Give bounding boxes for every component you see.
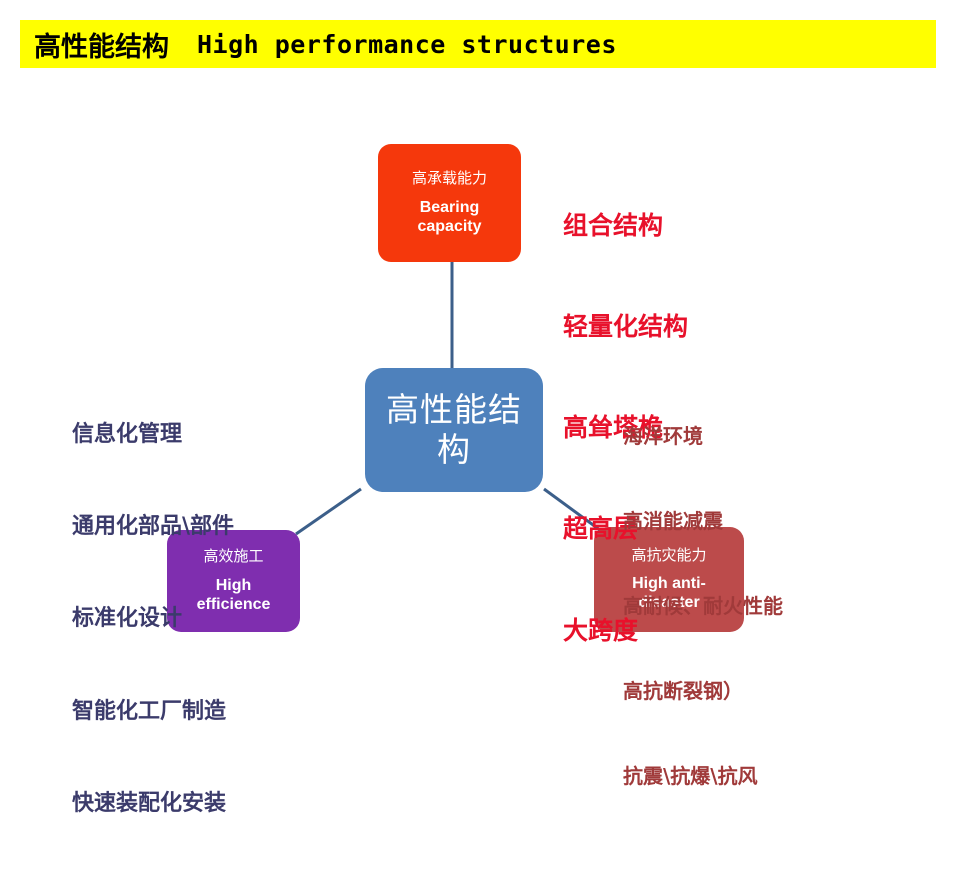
connector-bottom-left (296, 489, 361, 534)
slide-title-banner: 高性能结构 High performance structures (20, 20, 936, 68)
annotation-red-line: 轻量化结构 (563, 310, 688, 344)
annotation-construction-efficiency: 信息化管理 通用化部品\部件 标准化设计 智能化工厂制造 快速装配化安装 (72, 358, 234, 882)
title-chinese: 高性能结构 (20, 25, 169, 64)
annotation-purple-line: 通用化部品\部件 (72, 512, 234, 543)
title-english: High performance structures (169, 30, 617, 59)
node-top-chinese-label: 高承载能力 (412, 170, 487, 187)
slide-canvas: 高性能结构 High performance structures 高承载能力 … (0, 0, 960, 720)
node-high-performance-structures[interactable]: 高性能结构 (365, 368, 543, 492)
node-bearing-capacity[interactable]: 高承载能力 Bearing capacity (378, 144, 521, 262)
annotation-brick-line: 高抗断裂钢） (623, 677, 783, 705)
annotation-brick-line: 高耐候、耐火性能 (623, 592, 783, 620)
annotation-purple-line: 信息化管理 (72, 420, 234, 451)
node-top-english-label: Bearing capacity (417, 199, 481, 236)
annotation-brick-line: 抗震\抗爆\抗风 (623, 762, 783, 790)
annotation-red-line: 组合结构 (563, 209, 688, 243)
annotation-purple-line: 智能化工厂制造 (72, 697, 234, 728)
annotation-purple-line: 标准化设计 (72, 604, 234, 635)
annotation-disaster-resistance: 海洋环境 高消能减震 高耐候、耐火性能 高抗断裂钢） 抗震\抗爆\抗风 (623, 365, 783, 848)
node-top-english-line1: Bearing (420, 199, 480, 216)
annotation-brick-line: 海洋环境 (623, 422, 783, 450)
annotation-purple-line: 快速装配化安装 (72, 789, 234, 820)
node-center-chinese-label: 高性能结构 (365, 390, 543, 471)
node-top-english-line2: capacity (417, 218, 481, 235)
annotation-brick-line: 高消能减震 (623, 507, 783, 535)
